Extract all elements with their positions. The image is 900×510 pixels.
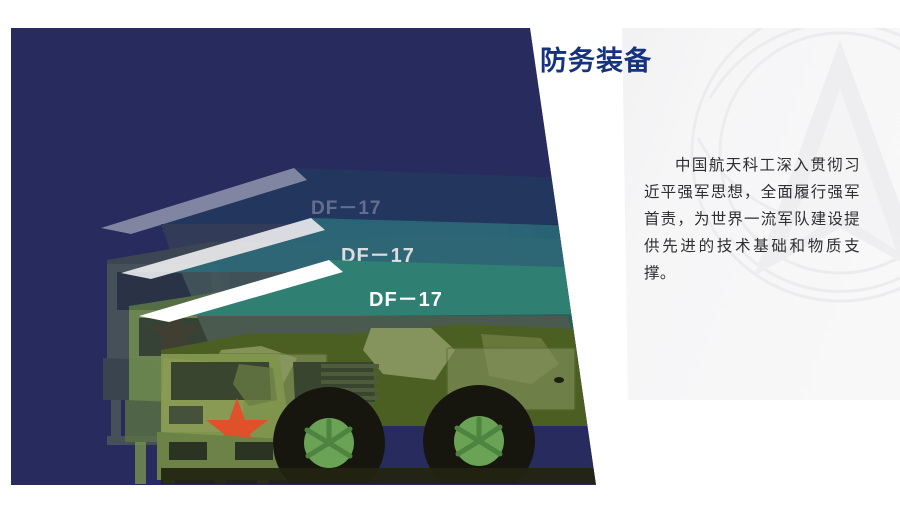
missile-launcher-convoy-graphic: DF－17 — [11, 28, 596, 485]
body-paragraph: 中国航天科工深入贯彻习近平强军思想，全面履行强军首责，为世界一流军队建设提供先进… — [644, 152, 860, 287]
missile-label-back: DF－17 — [311, 198, 381, 219]
missile-label-front: DF－17 — [369, 289, 443, 311]
illustration-panel: DF－17 — [11, 28, 596, 485]
page-title: 防务装备 — [540, 44, 652, 78]
slide-canvas: DF－17 — [0, 0, 900, 510]
